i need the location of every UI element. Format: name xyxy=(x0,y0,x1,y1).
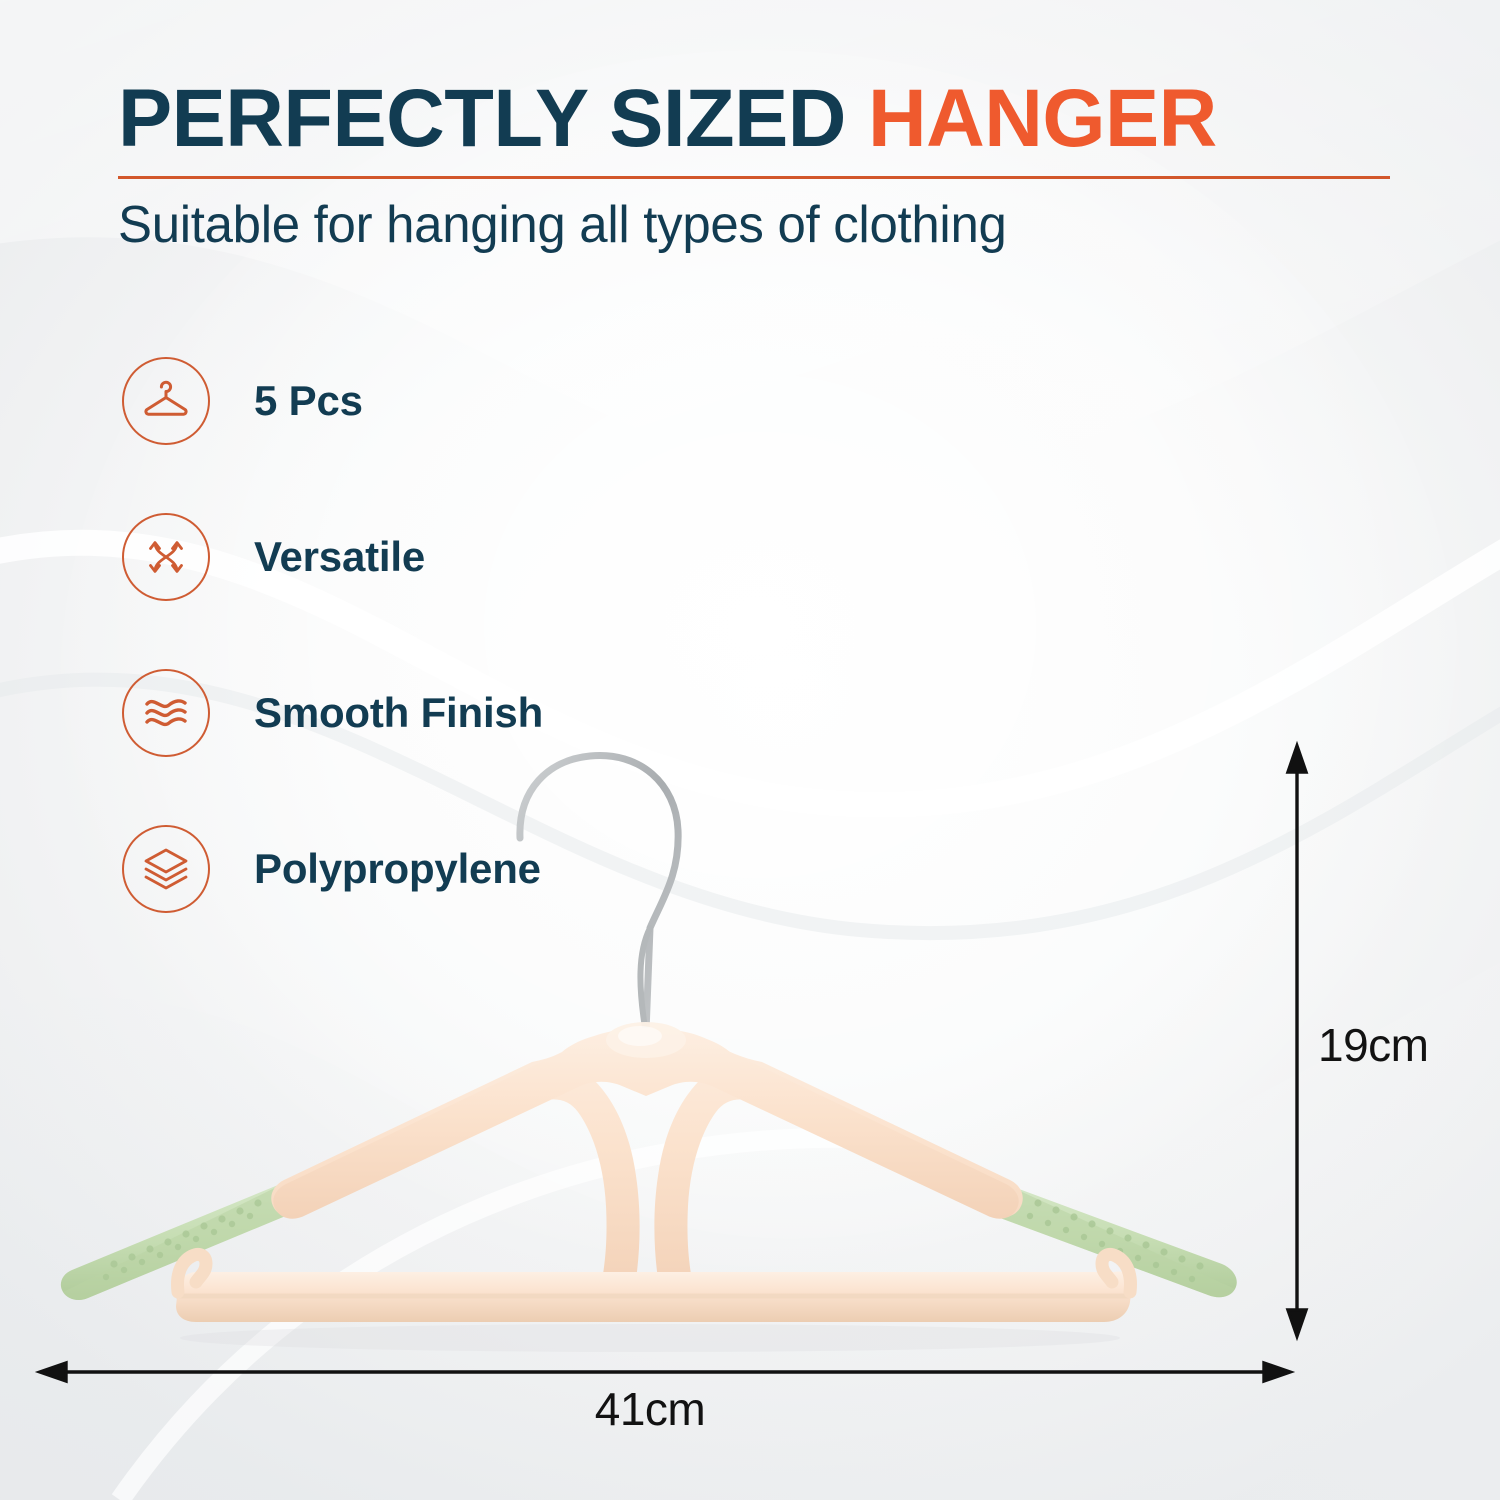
height-arrow-top xyxy=(1288,746,1306,772)
height-dimension-label: 19cm xyxy=(1318,1018,1428,1072)
width-dimension-label: 41cm xyxy=(0,1382,1300,1436)
dimension-callouts xyxy=(0,0,1500,1500)
width-arrow-right xyxy=(1264,1363,1290,1381)
width-arrow-left xyxy=(40,1363,66,1381)
height-arrow-bottom xyxy=(1288,1310,1306,1336)
